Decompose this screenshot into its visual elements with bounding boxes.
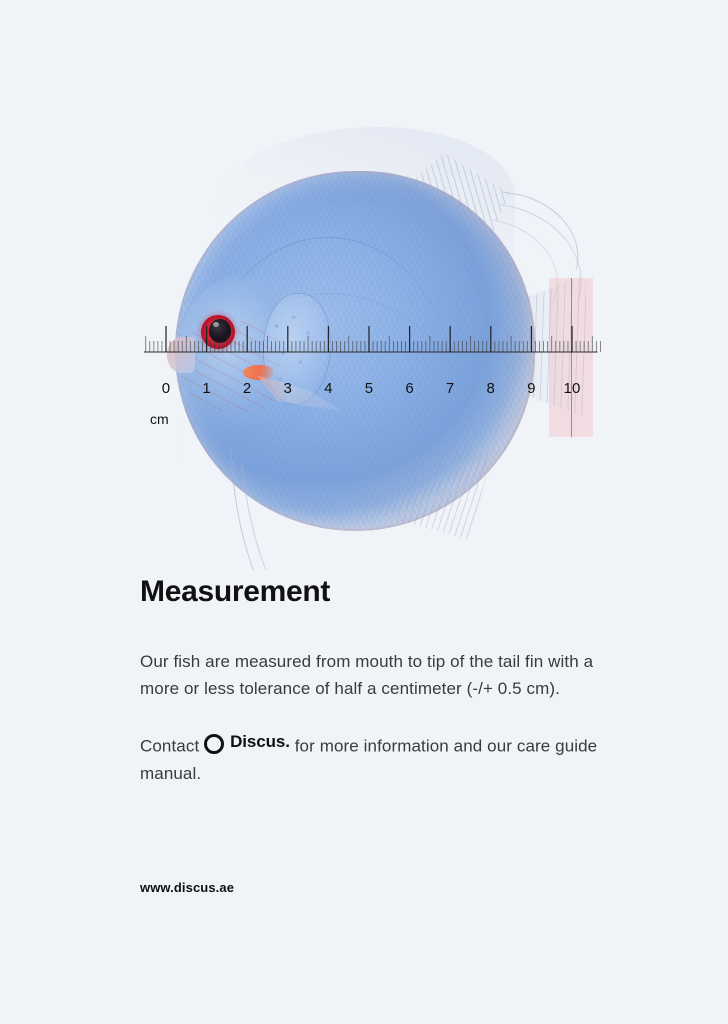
description-paragraph: Our fish are measured from mouth to tip … [140, 648, 610, 702]
ruler-tick-1: 1 [202, 380, 211, 397]
ruler-tick-10: 10 [563, 380, 580, 397]
ruler-overlay [0, 0, 728, 570]
ruler-tick-6: 6 [405, 380, 414, 397]
fish-photo: 012345678910 cm [0, 0, 728, 570]
ruler-tick-4: 4 [324, 380, 333, 397]
discus-logo[interactable]: Discus. [204, 728, 290, 755]
contact-paragraph: Contact Discus. for more information and… [140, 728, 610, 787]
contact-prefix: Contact [140, 737, 199, 756]
ruler-unit-label: cm [150, 411, 169, 427]
brand-name: Discus. [230, 728, 290, 755]
ruler-tick-2: 2 [243, 380, 252, 397]
ruler-tick-7: 7 [446, 380, 455, 397]
text-content: Measurement Our fish are measured from m… [140, 575, 610, 787]
website-url[interactable]: www.discus.ae [140, 880, 234, 895]
ruler-tick-3: 3 [284, 380, 293, 397]
page-title: Measurement [140, 575, 610, 608]
ruler-tick-9: 9 [527, 380, 536, 397]
ruler-tick-0: 0 [162, 380, 171, 397]
measurement-poster: 012345678910 cm Measurement Our fish are… [0, 0, 728, 1024]
ruler-tick-8: 8 [487, 380, 496, 397]
ring-icon [204, 734, 224, 754]
ruler-tick-5: 5 [365, 380, 374, 397]
